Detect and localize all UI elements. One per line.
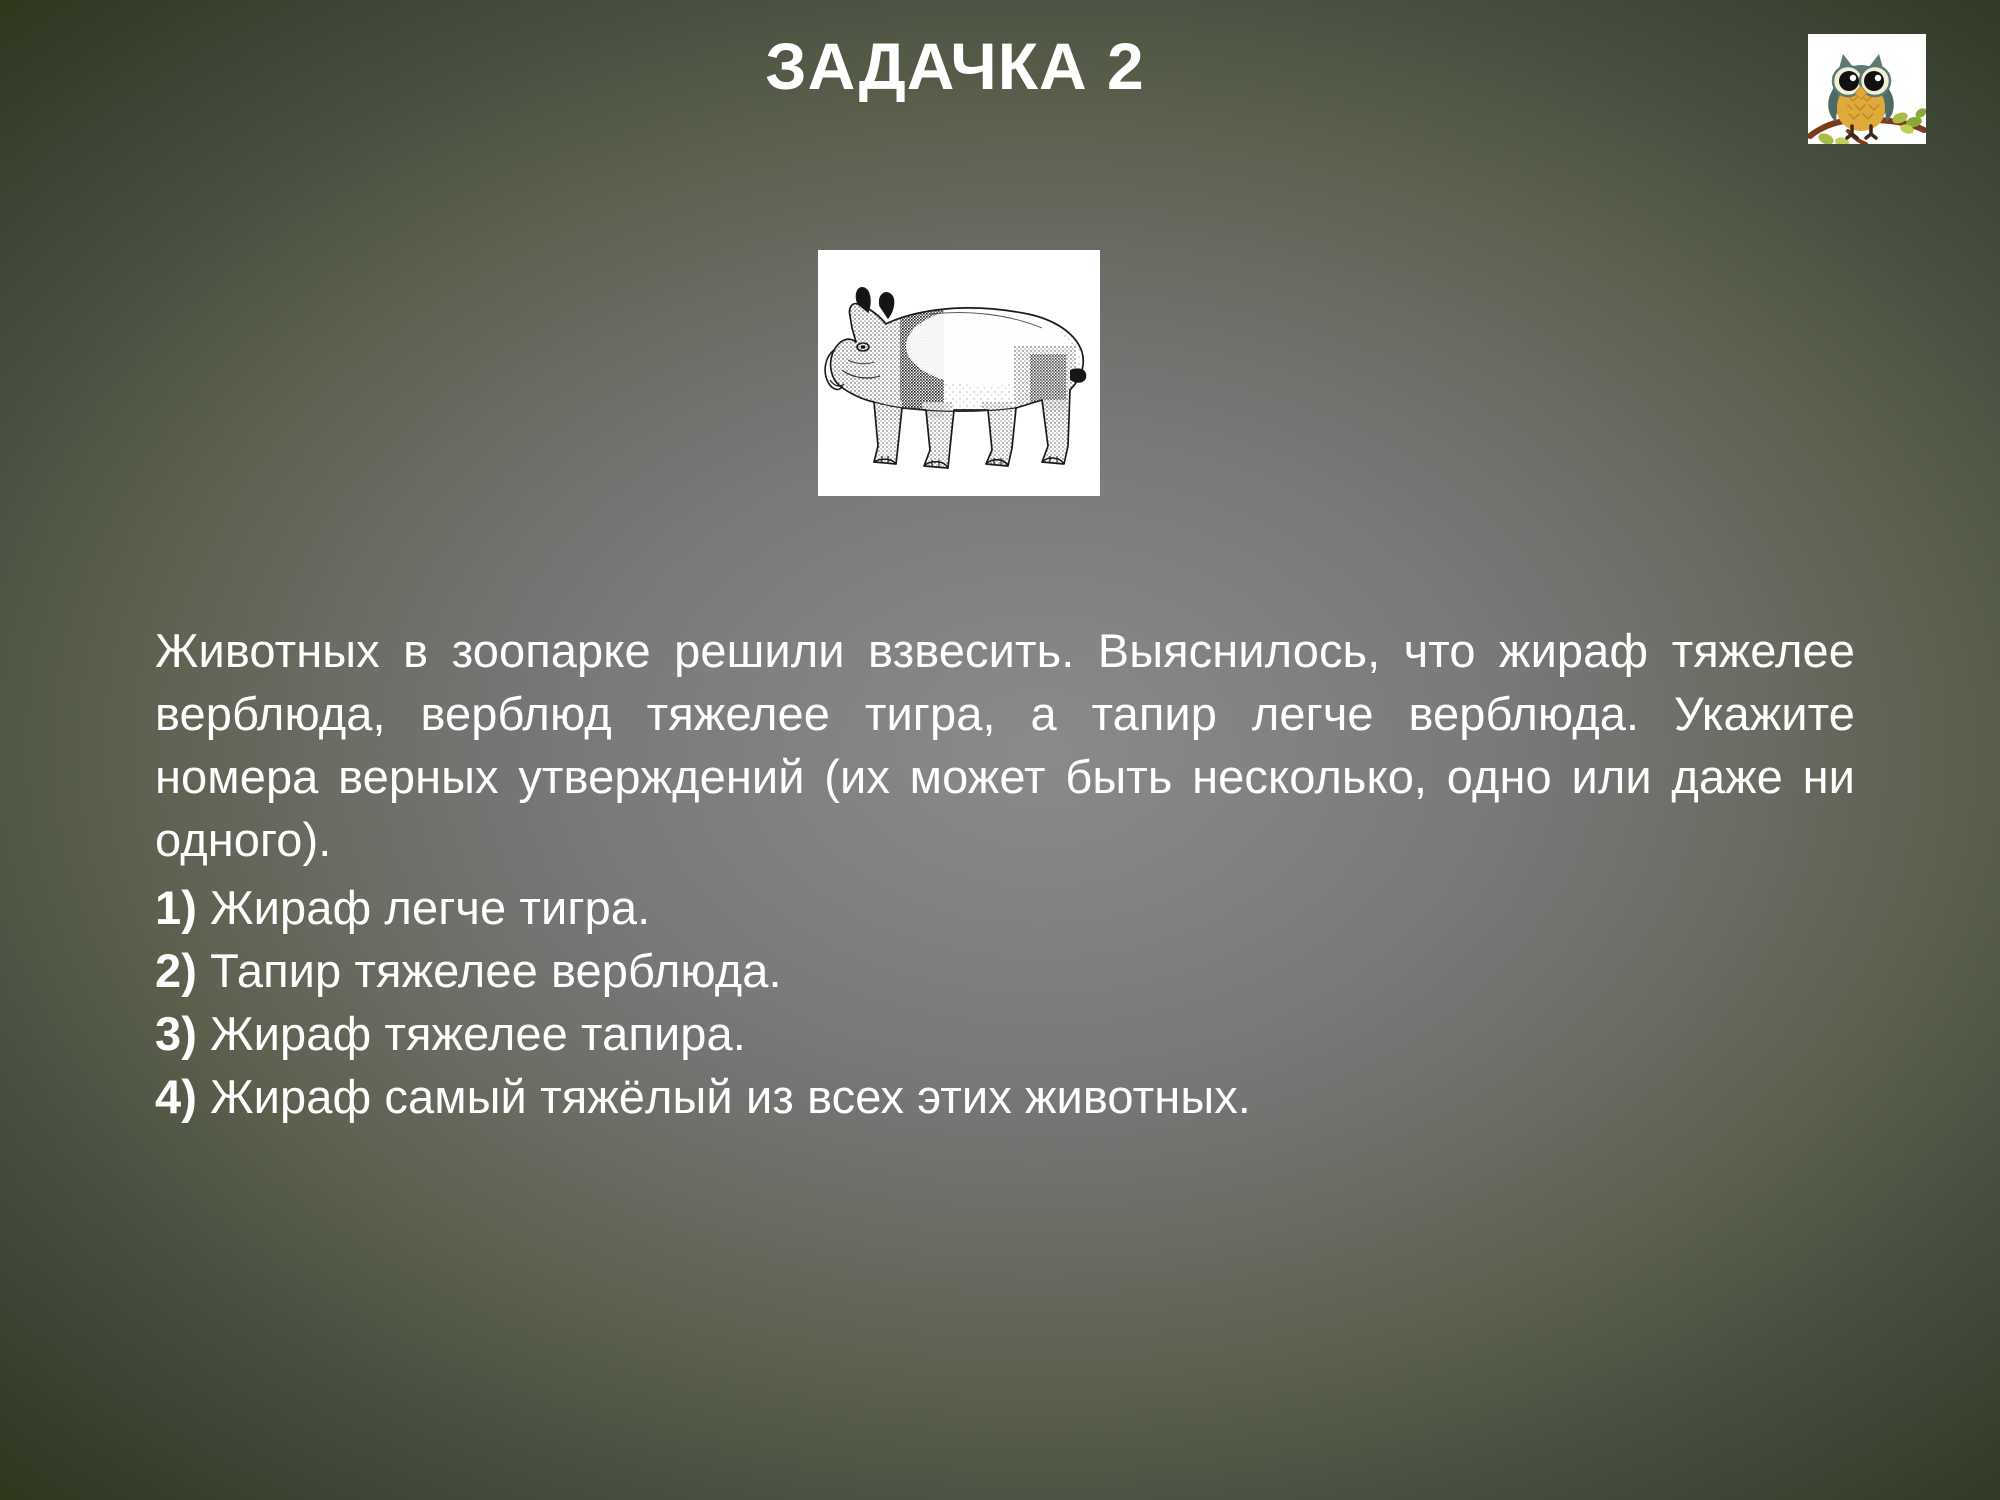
tapir-icon (818, 250, 1100, 496)
slide: ЗАДАЧКА 2 (0, 0, 2000, 1500)
answer-option-2[interactable]: 2) Тапир тяжелее верблюда. (155, 939, 1855, 1002)
answer-option-4[interactable]: 4) Жираф самый тяжёлый из всех этих живо… (155, 1065, 1855, 1128)
page-title: ЗАДАЧКА 2 (0, 28, 1910, 106)
owl-icon (1808, 34, 1926, 144)
answer-number-3: 3) (155, 1007, 197, 1060)
answer-number-4: 4) (155, 1070, 197, 1123)
answer-text-2: Тапир тяжелее верблюда. (210, 944, 782, 997)
answer-text-3: Жираф тяжелее тапира. (210, 1007, 746, 1060)
answer-options-list: 1) Жираф легче тигра. 2) Тапир тяжелее в… (155, 876, 1855, 1129)
tapir-drawing (818, 250, 1100, 496)
answer-text-4: Жираф самый тяжёлый из всех этих животны… (210, 1070, 1251, 1123)
answer-number-2: 2) (155, 944, 197, 997)
answer-text-1: Жираф легче тигра. (210, 881, 650, 934)
problem-text-block: Животных в зоопарке решили взвесить. Выя… (155, 620, 1855, 1129)
answer-number-1: 1) (155, 881, 197, 934)
answer-option-1[interactable]: 1) Жираф легче тигра. (155, 876, 1855, 939)
answer-option-3[interactable]: 3) Жираф тяжелее тапира. (155, 1002, 1855, 1065)
problem-statement: Животных в зоопарке решили взвесить. Выя… (155, 620, 1855, 872)
owl-logo (1808, 34, 1926, 144)
